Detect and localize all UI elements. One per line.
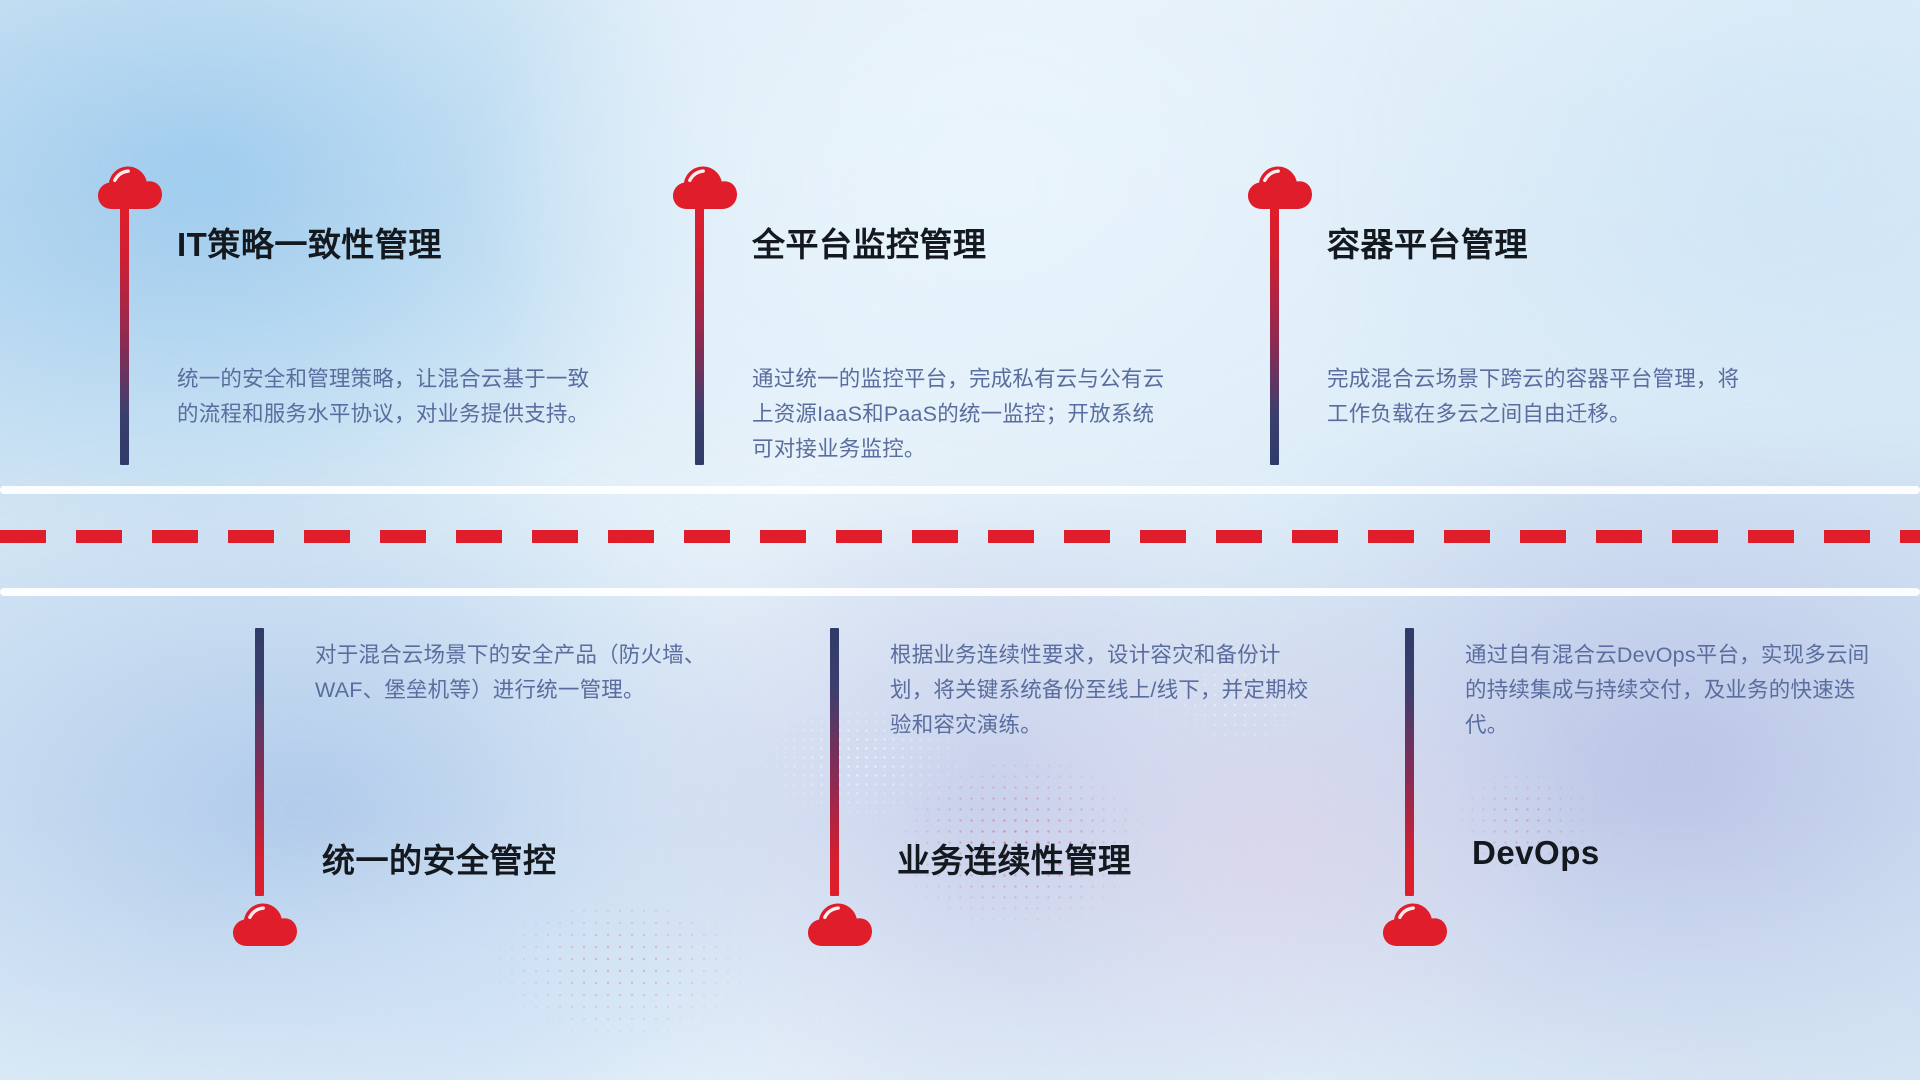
feature-heading: IT策略一致性管理 xyxy=(177,218,442,266)
connector-stem xyxy=(695,205,704,465)
feature-description: 对于混合云场景下的安全产品（防火墙、WAF、堡垒机等）进行统一管理。 xyxy=(315,638,735,708)
divider-rail-top xyxy=(0,486,1920,494)
connector-stem xyxy=(1270,205,1279,465)
connector-stem xyxy=(255,628,264,896)
connector-stem xyxy=(830,628,839,896)
feature-heading: 业务连续性管理 xyxy=(897,834,1132,882)
feature-description: 通过自有混合云DevOps平台，实现多云间的持续集成与持续交付，及业务的快速迭代… xyxy=(1465,638,1885,743)
divider-rail-bottom xyxy=(0,588,1920,596)
cloud-icon xyxy=(672,160,738,210)
feature-heading: 容器平台管理 xyxy=(1327,218,1528,266)
cloud-icon xyxy=(97,160,163,210)
feature-description: 统一的安全和管理策略，让混合云基于一致的流程和服务水平协议，对业务提供支持。 xyxy=(177,362,597,432)
cloud-icon xyxy=(1382,897,1448,947)
feature-heading: 统一的安全管控 xyxy=(322,834,557,882)
cloud-icon xyxy=(807,897,873,947)
connector-stem xyxy=(1405,628,1414,896)
feature-heading: DevOps xyxy=(1472,834,1600,872)
feature-heading: 全平台监控管理 xyxy=(752,218,987,266)
cloud-icon xyxy=(1247,160,1313,210)
feature-description: 完成混合云场景下跨云的容器平台管理，将工作负载在多云之间自由迁移。 xyxy=(1327,362,1747,432)
section-divider xyxy=(0,486,1920,596)
connector-stem xyxy=(120,205,129,465)
feature-description: 根据业务连续性要求，设计容灾和备份计划，将关键系统备份至线上/线下，并定期校验和… xyxy=(890,638,1310,743)
divider-dashed-line xyxy=(0,530,1920,543)
cloud-icon xyxy=(232,897,298,947)
feature-description: 通过统一的监控平台，完成私有云与公有云上资源IaaS和PaaS的统一监控；开放系… xyxy=(752,362,1172,467)
